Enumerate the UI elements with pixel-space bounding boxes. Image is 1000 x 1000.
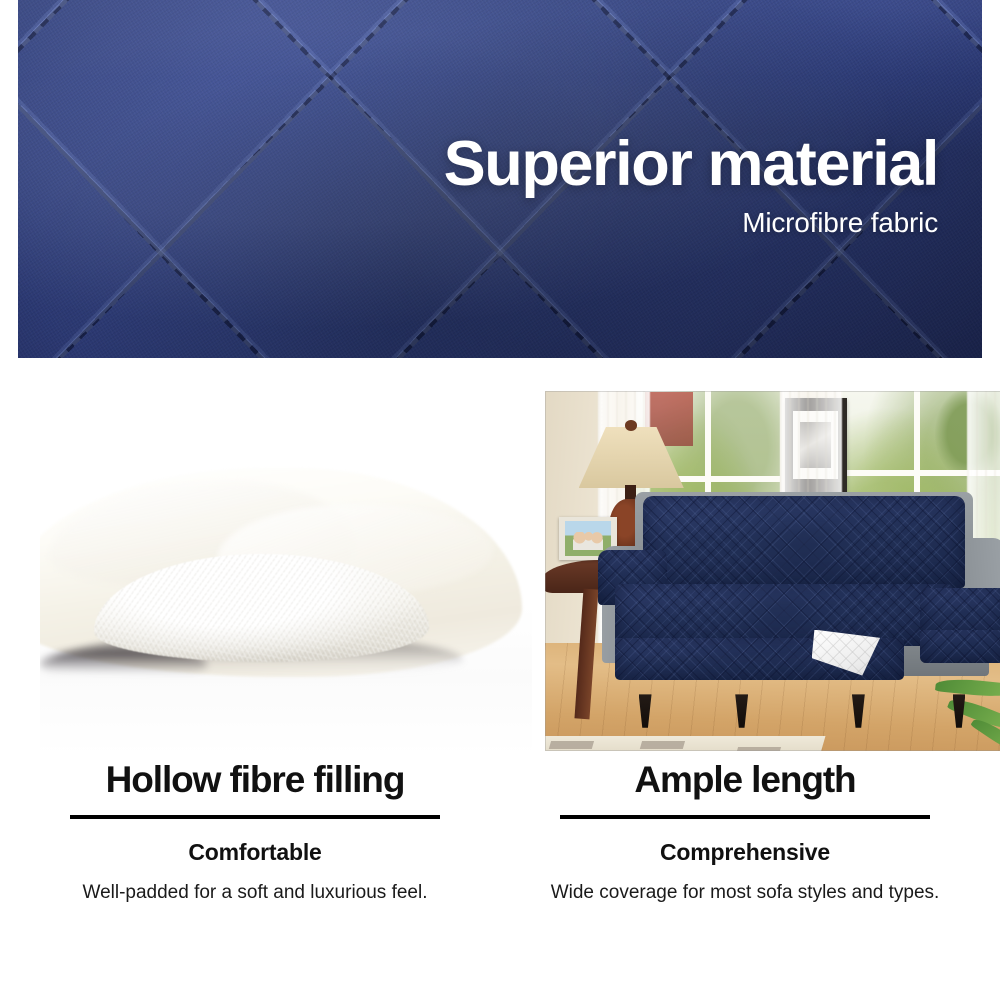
sofa-cover-photo bbox=[545, 391, 1000, 751]
feature-rule bbox=[560, 815, 930, 819]
hero-text-block: Superior material Microfibre fabric bbox=[444, 132, 938, 239]
feature-block-ample-length: Ample length Comprehensive Wide coverage… bbox=[525, 760, 965, 907]
feature-title: Hollow fibre filling bbox=[35, 760, 475, 801]
feature-body: Well-padded for a soft and luxurious fee… bbox=[35, 880, 475, 907]
feature-block-hollow-fibre-filling: Hollow fibre filling Comfortable Well-pa… bbox=[35, 760, 475, 907]
product-feature-page: Superior material Microfibre fabric bbox=[0, 0, 1000, 1000]
feature-subtitle: Comprehensive bbox=[525, 839, 965, 866]
feature-title: Ample length bbox=[525, 760, 965, 801]
feature-rule bbox=[70, 815, 440, 819]
photo-border bbox=[545, 391, 1000, 751]
hollow-fibre-photo bbox=[40, 396, 532, 756]
hero-subtitle: Microfibre fabric bbox=[444, 206, 938, 240]
wadding-right-tip bbox=[404, 576, 532, 619]
hero-banner: Superior material Microfibre fabric bbox=[18, 0, 982, 358]
feature-subtitle: Comfortable bbox=[35, 839, 475, 866]
feature-body: Wide coverage for most sofa styles and t… bbox=[525, 880, 965, 907]
hero-title: Superior material bbox=[444, 132, 938, 198]
